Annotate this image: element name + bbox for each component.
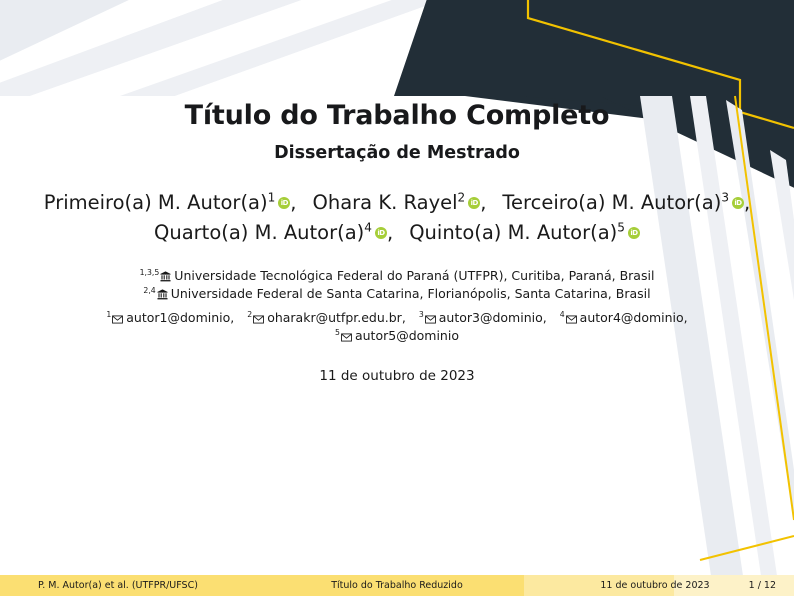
author-entry: Terceiro(a) M. Autor(a)3,	[502, 191, 750, 214]
email-address: autor4@dominio	[580, 310, 684, 325]
orcid-id-icon[interactable]	[375, 227, 387, 239]
author-line-1: Primeiro(a) M. Autor(a)1,Ohara K. Rayel2…	[0, 188, 794, 218]
orcid-id-icon[interactable]	[732, 197, 744, 209]
author-line-2: Quarto(a) M. Autor(a)4,Quinto(a) M. Auto…	[0, 218, 794, 248]
author-affiliation-mark: 4	[364, 221, 372, 235]
author-separator: ,	[744, 191, 750, 214]
email-address: autor5@dominio	[355, 328, 459, 343]
author-list: Primeiro(a) M. Autor(a)1,Ohara K. Rayel2…	[0, 188, 794, 248]
university-building-icon	[157, 288, 168, 304]
envelope-icon	[341, 330, 352, 346]
affiliation-item: 2,4Universidade Federal de Santa Catarin…	[0, 286, 794, 304]
affiliation-text: Universidade Federal de Santa Catarina, …	[171, 286, 651, 301]
logo-band: CAMPUS CURITIBA UniversidadequeTransform…	[0, 500, 794, 575]
author-name: Quinto(a) M. Autor(a)	[409, 221, 617, 244]
presentation-title-slide: Título do Trabalho Completo Dissertação …	[0, 0, 794, 596]
affiliation-item: 1,3,5Universidade Tecnológica Federal do…	[0, 268, 794, 286]
slide-content: Título do Trabalho Completo Dissertação …	[0, 0, 794, 575]
email-mark: 3	[419, 310, 424, 319]
email-address: oharakr@utfpr.edu.br	[267, 310, 402, 325]
author-affiliation-mark: 3	[721, 191, 729, 205]
email-mark: 5	[335, 328, 340, 337]
affiliation-list: 1,3,5Universidade Tecnológica Federal do…	[0, 268, 794, 304]
author-entry: Quinto(a) M. Autor(a)5	[409, 221, 640, 244]
email-separator: ,	[402, 310, 406, 325]
email-separator: ,	[684, 310, 688, 325]
email-item[interactable]: 4autor4@dominio,	[560, 310, 688, 325]
email-mark: 4	[560, 310, 565, 319]
orcid-id-icon[interactable]	[628, 227, 640, 239]
page-title: Título do Trabalho Completo	[0, 100, 794, 131]
affiliation-text: Universidade Tecnológica Federal do Para…	[174, 268, 654, 283]
author-affiliation-mark: 5	[617, 221, 625, 235]
envelope-icon	[253, 312, 264, 328]
email-line-2: 5autor5@dominio	[0, 328, 794, 346]
email-item[interactable]: 5autor5@dominio	[335, 328, 459, 343]
author-separator: ,	[290, 191, 296, 214]
email-address: autor1@dominio	[126, 310, 230, 325]
author-separator: ,	[480, 191, 486, 214]
author-entry: Ohara K. Rayel2,	[313, 191, 487, 214]
footer-page-number: 1 / 12	[700, 580, 776, 591]
email-item[interactable]: 3autor3@dominio,	[419, 310, 547, 325]
email-address: autor3@dominio	[439, 310, 543, 325]
author-separator: ,	[387, 221, 393, 244]
email-mark: 1	[106, 310, 111, 319]
email-item[interactable]: 1autor1@dominio,	[106, 310, 234, 325]
presentation-date: 11 de outubro de 2023	[0, 368, 794, 384]
author-name: Quarto(a) M. Autor(a)	[154, 221, 364, 244]
affiliation-mark: 2,4	[143, 286, 155, 295]
author-affiliation-mark: 2	[458, 191, 466, 205]
email-mark: 2	[247, 310, 252, 319]
email-separator: ,	[543, 310, 547, 325]
email-line-1: 1autor1@dominio,2oharakr@utfpr.edu.br,3a…	[0, 310, 794, 328]
slide-footer: P. M. Autor(a) et al. (UTFPR/UFSC) Títul…	[0, 575, 794, 596]
author-entry: Quarto(a) M. Autor(a)4,	[154, 221, 393, 244]
university-building-icon	[160, 270, 171, 286]
email-separator: ,	[230, 310, 234, 325]
author-affiliation-mark: 1	[268, 191, 276, 205]
envelope-icon	[566, 312, 577, 328]
author-name: Primeiro(a) M. Autor(a)	[44, 191, 268, 214]
author-entry: Primeiro(a) M. Autor(a)1,	[44, 191, 297, 214]
page-subtitle: Dissertação de Mestrado	[0, 143, 794, 163]
email-list: 1autor1@dominio,2oharakr@utfpr.edu.br,3a…	[0, 310, 794, 346]
envelope-icon	[112, 312, 123, 328]
author-name: Ohara K. Rayel	[313, 191, 458, 214]
orcid-id-icon[interactable]	[468, 197, 480, 209]
email-item[interactable]: 2oharakr@utfpr.edu.br,	[247, 310, 406, 325]
envelope-icon	[425, 312, 436, 328]
affiliation-mark: 1,3,5	[140, 268, 160, 277]
orcid-id-icon[interactable]	[278, 197, 290, 209]
author-name: Terceiro(a) M. Autor(a)	[502, 191, 721, 214]
